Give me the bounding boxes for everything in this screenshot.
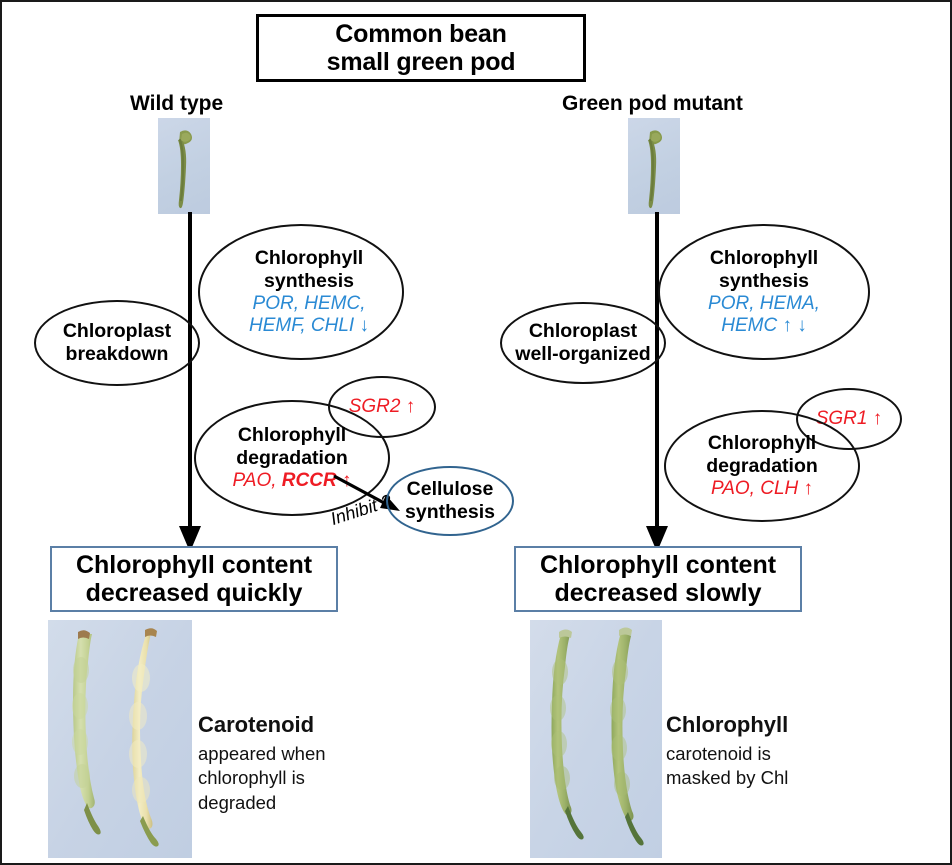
right-synthesis-ellipse: Chlorophyll synthesis POR, HEMA, HEMC ↑ … <box>658 224 870 360</box>
left-caption-title: Carotenoid <box>198 712 326 738</box>
right-result-box: Chlorophyll content decreased slowly <box>514 546 802 612</box>
left-chloroplast-ellipse: Chloroplast breakdown <box>34 300 200 386</box>
right-column-header: Green pod mutant <box>562 92 743 116</box>
right-caption-line-1: carotenoid is <box>666 742 788 766</box>
right-degradation-line-2: degradation <box>706 455 818 478</box>
right-result-line-2: decreased slowly <box>554 579 761 607</box>
figure-title-line-2: small green pod <box>327 48 516 76</box>
left-degradation-genes-plain: PAO, <box>233 470 282 491</box>
right-caption: Chlorophyll carotenoid is masked by Chl <box>666 712 788 791</box>
cellulose-synthesis-ellipse: Cellulose synthesis <box>386 466 514 536</box>
cellulose-line-2: synthesis <box>405 501 495 524</box>
left-chloroplast-line-2: breakdown <box>66 343 169 366</box>
left-column-header: Wild type <box>130 92 223 116</box>
left-small-pod-photo <box>158 118 210 214</box>
right-caption-title: Chlorophyll <box>666 712 788 738</box>
right-synthesis-genes-line-2: HEMC ↑ ↓ <box>721 315 807 337</box>
left-synthesis-line-1: Chlorophyll <box>255 247 363 270</box>
right-degradation-ellipse: Chlorophyll degradation PAO, CLH ↑ <box>664 410 860 522</box>
right-chloroplast-line-2: well-organized <box>515 343 650 366</box>
right-result-line-1: Chlorophyll content <box>540 551 776 579</box>
right-chloroplast-ellipse: Chloroplast well-organized <box>500 302 666 384</box>
right-degradation-line-1: Chlorophyll <box>708 432 816 455</box>
left-synthesis-genes-line-2: HEMF, CHLI ↓ <box>249 315 369 337</box>
left-synthesis-genes-line-1: POR, HEMC, <box>253 293 366 315</box>
right-chloroplast-line-1: Chloroplast <box>529 320 637 343</box>
figure-panel: Common bean small green pod Wild type Gr… <box>0 0 952 865</box>
right-synthesis-line-2: synthesis <box>719 270 809 293</box>
left-degradation-line-2: degradation <box>236 447 348 470</box>
left-flow-arrow <box>170 210 212 555</box>
left-mature-pods-photo <box>48 620 192 858</box>
right-mature-pods-photo <box>530 620 662 858</box>
right-small-pod-photo <box>628 118 680 214</box>
left-caption-line-1: appeared when <box>198 742 326 766</box>
left-degradation-line-1: Chlorophyll <box>238 424 346 447</box>
left-result-line-2: decreased quickly <box>86 579 303 607</box>
left-degradation-genes-bold: RCCR <box>282 470 337 491</box>
right-synthesis-genes-line-1: POR, HEMA, <box>708 293 820 315</box>
right-caption-line-2: masked by Chl <box>666 766 788 790</box>
left-result-box: Chlorophyll content decreased quickly <box>50 546 338 612</box>
left-synthesis-ellipse: Chlorophyll synthesis POR, HEMC, HEMF, C… <box>198 224 404 360</box>
left-caption-line-3: degraded <box>198 791 326 815</box>
right-synthesis-line-1: Chlorophyll <box>710 247 818 270</box>
figure-title-box: Common bean small green pod <box>256 14 586 82</box>
left-synthesis-line-2: synthesis <box>264 270 354 293</box>
left-result-line-1: Chlorophyll content <box>76 551 312 579</box>
figure-title-line-1: Common bean <box>335 20 506 48</box>
cellulose-line-1: Cellulose <box>407 478 494 501</box>
left-caption: Carotenoid appeared when chlorophyll is … <box>198 712 326 815</box>
left-caption-line-2: chlorophyll is <box>198 766 326 790</box>
left-chloroplast-line-1: Chloroplast <box>63 320 171 343</box>
right-degradation-genes: PAO, CLH ↑ <box>711 478 813 500</box>
